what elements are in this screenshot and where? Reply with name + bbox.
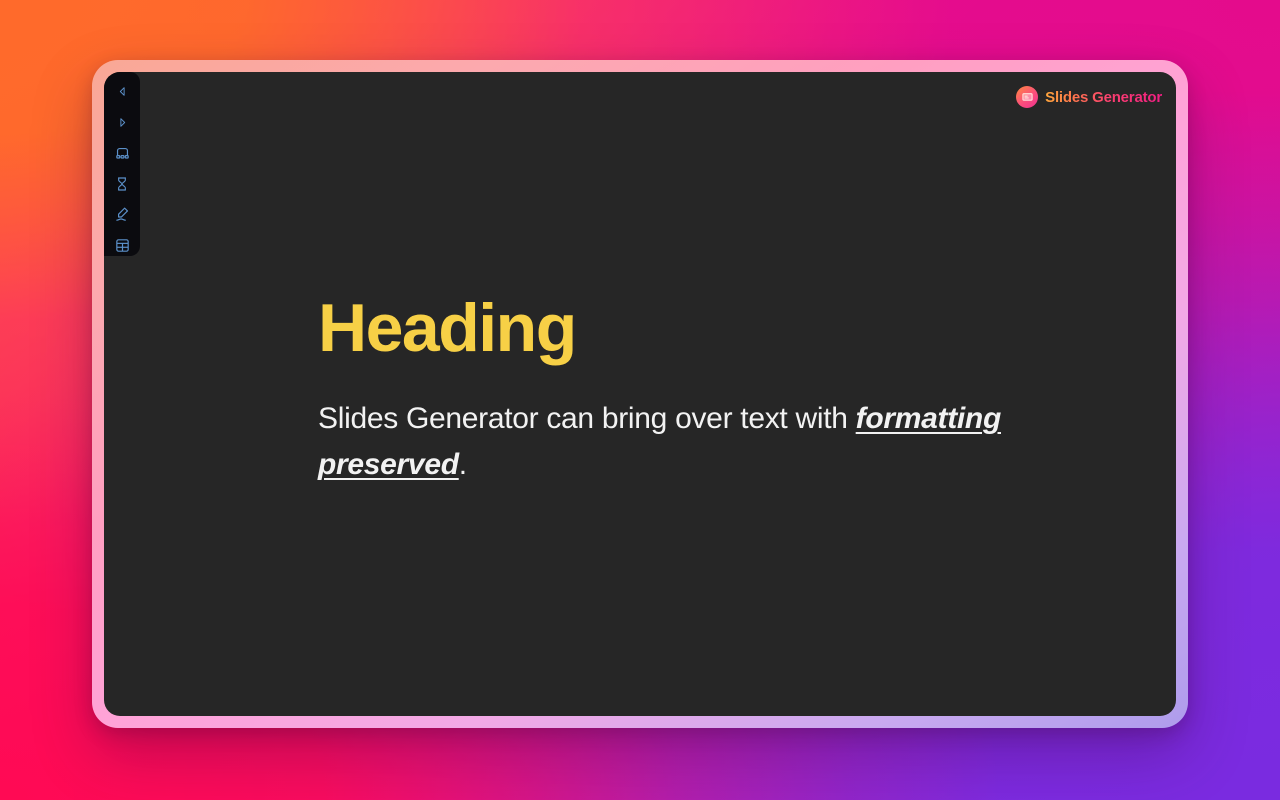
rail-item-expand-right[interactable]	[109, 112, 135, 133]
rail-item-collapse-left[interactable]	[109, 81, 135, 102]
brand-name: Slides Generator	[1045, 89, 1162, 106]
slide-body-text[interactable]: Slides Generator can bring over text wit…	[318, 396, 1038, 488]
slides-presentation-icon	[1016, 86, 1038, 108]
rail-item-pen-tool[interactable]	[109, 204, 135, 225]
slide-layout-icon	[114, 145, 131, 162]
table-grid-icon	[114, 237, 131, 254]
collapse-left-icon	[116, 85, 129, 98]
brand-badge[interactable]: Slides Generator	[1016, 86, 1162, 108]
tool-rail	[104, 72, 140, 256]
body-suffix: .	[459, 448, 467, 481]
rail-item-slide-layout[interactable]	[109, 143, 135, 164]
rail-item-hourglass[interactable]	[109, 173, 135, 194]
app-window-frame: Slides Generator Heading Slides Generato…	[92, 60, 1188, 728]
body-prefix: Slides Generator can bring over text wit…	[318, 402, 856, 435]
hourglass-icon	[114, 176, 130, 192]
slide-canvas[interactable]: Slides Generator Heading Slides Generato…	[104, 72, 1176, 716]
rail-item-table-grid[interactable]	[109, 235, 135, 256]
slide-heading[interactable]: Heading	[318, 294, 1038, 362]
pen-tool-icon	[114, 206, 131, 223]
slide-text-block: Heading Slides Generator can bring over …	[318, 294, 1038, 488]
expand-right-icon	[116, 116, 129, 129]
